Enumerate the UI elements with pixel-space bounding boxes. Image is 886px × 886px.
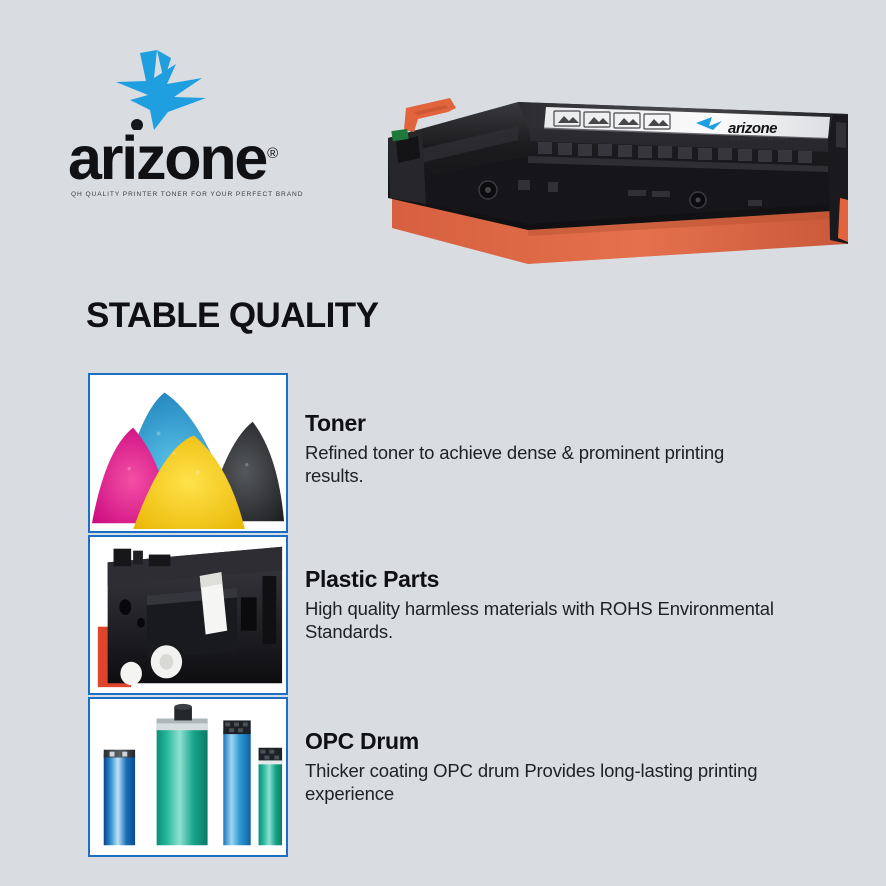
brand-tagline: QH QUALITY PRINTER TONER FOR YOUR PERFEC… xyxy=(71,191,277,198)
feature-description: Refined toner to achieve dense & promine… xyxy=(305,441,785,488)
feature-title: Toner xyxy=(305,409,785,438)
section-title: STABLE QUALITY xyxy=(86,296,378,336)
infographic-page: arizone® QH QUALITY PRINTER TONER FOR YO… xyxy=(0,0,886,886)
thumbnail-opc-drum xyxy=(88,697,288,857)
feature-row-plastic-parts: Plastic Parts High quality harmless mate… xyxy=(88,535,788,695)
feature-description: High quality harmless materials with ROH… xyxy=(305,597,785,644)
feature-text-opc-drum: OPC Drum Thicker coating OPC drum Provid… xyxy=(305,727,785,806)
feature-title: Plastic Parts xyxy=(305,565,785,594)
svg-text:arizone: arizone xyxy=(728,120,777,137)
feature-description: Thicker coating OPC drum Provides long-l… xyxy=(305,759,785,806)
bird-logo-icon xyxy=(110,48,230,130)
opc-drum-illustration xyxy=(90,699,286,855)
thumbnail-plastic-parts xyxy=(88,535,288,695)
plastic-parts-illustration xyxy=(90,537,286,693)
feature-text-plastic-parts: Plastic Parts High quality harmless mate… xyxy=(305,565,785,644)
product-photo-cartridge: arizone QH QUALITY PRINTER TONER xyxy=(378,78,858,283)
brand-logo: arizone® QH QUALITY PRINTER TONER FOR YO… xyxy=(68,48,278,198)
feature-text-toner: Toner Refined toner to achieve dense & p… xyxy=(305,409,785,488)
feature-row-toner: Toner Refined toner to achieve dense & p… xyxy=(88,373,788,533)
cmyk-toner-powder-illustration xyxy=(90,375,286,531)
thumbnail-toner-powder xyxy=(88,373,288,533)
feature-row-opc-drum: OPC Drum Thicker coating OPC drum Provid… xyxy=(88,697,788,857)
toner-cartridge-illustration: arizone QH QUALITY PRINTER TONER xyxy=(378,78,858,283)
brand-name: arizone xyxy=(68,124,266,192)
brand-wordmark: arizone® xyxy=(68,128,278,189)
feature-title: OPC Drum xyxy=(305,727,785,756)
registered-trademark-icon: ® xyxy=(267,145,278,162)
